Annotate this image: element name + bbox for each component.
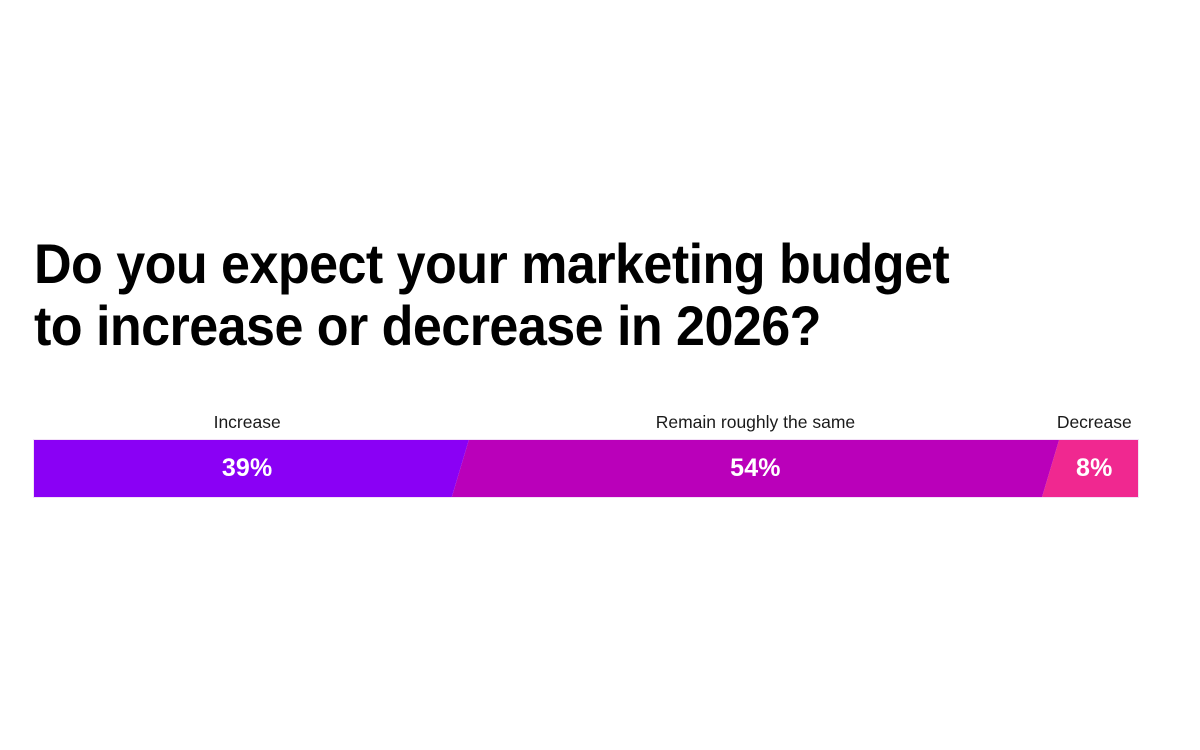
page-title: Do you expect your marketing budget to i…: [34, 233, 1011, 357]
bar-segment-increase: 39%: [34, 440, 477, 497]
category-label-decrease: Decrease: [894, 409, 1200, 435]
category-label-increase: Increase: [47, 409, 447, 435]
chart-figure: Do you expect your marketing budget to i…: [0, 0, 1200, 750]
bar-segment-remain-roughly-the-same: 54%: [443, 440, 1067, 497]
stacked-bar-chart: 39% 54% 8%: [34, 440, 1138, 497]
bar-segment-remain-value: 54%: [730, 456, 781, 481]
bar-segment-decrease-value: 8%: [1076, 456, 1113, 481]
category-label-row: Increase Remain roughly the same Decreas…: [34, 409, 1138, 435]
bar-segment-increase-value: 39%: [222, 456, 273, 481]
